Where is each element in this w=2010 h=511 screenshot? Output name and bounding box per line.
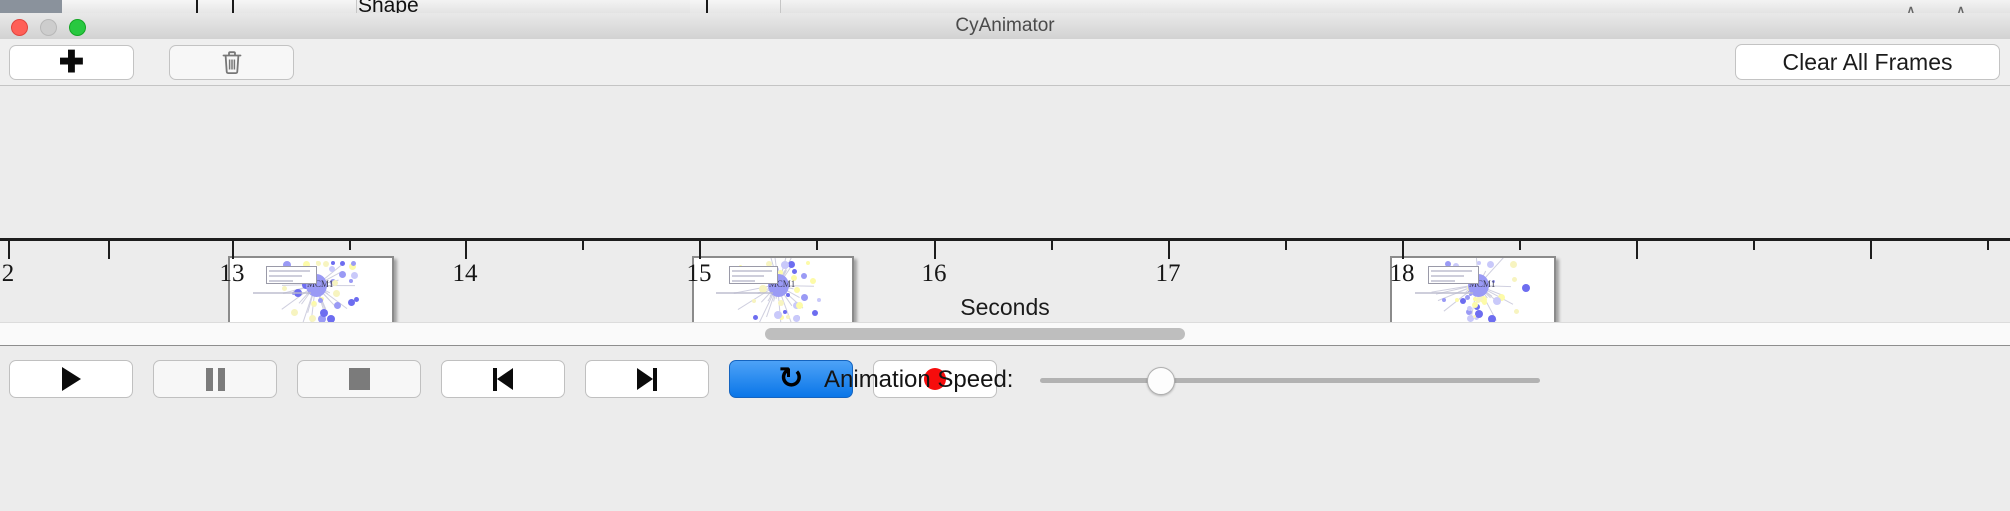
pause-button[interactable] bbox=[153, 360, 277, 398]
ruler-tick-major bbox=[1870, 241, 1872, 259]
background-chevron-icon: ∧ bbox=[1955, 1, 1967, 13]
ruler-tick-major bbox=[1168, 241, 1170, 259]
background-divider bbox=[232, 0, 234, 13]
ruler-tick-major bbox=[699, 241, 701, 259]
clear-all-frames-button[interactable]: Clear All Frames bbox=[1735, 44, 2000, 80]
ruler-tick-label: 15 bbox=[687, 260, 712, 288]
ruler-tick-minor bbox=[1285, 241, 1287, 250]
axis-title: Seconds bbox=[0, 294, 2010, 321]
ruler-tick-label: 16 bbox=[922, 260, 947, 288]
ruler-tick-major bbox=[934, 241, 936, 259]
animation-speed-slider[interactable] bbox=[1040, 378, 1540, 384]
ruler-tick-major bbox=[465, 241, 467, 259]
background-segment bbox=[300, 0, 357, 13]
ruler-tick-minor bbox=[349, 241, 351, 250]
ruler-tick-minor bbox=[1753, 241, 1755, 250]
title-bar: CyAnimator bbox=[0, 13, 2010, 40]
cyanimator-window: Shape ∧ ∧ CyAnimator ✚ Clear All Frames bbox=[0, 0, 2010, 510]
clear-all-frames-label: Clear All Frames bbox=[1783, 49, 1953, 76]
ruler-tick-minor bbox=[816, 241, 818, 250]
ruler-tick-minor bbox=[1519, 241, 1521, 250]
background-segment bbox=[62, 0, 149, 13]
background-divider bbox=[706, 0, 708, 13]
delete-frame-button[interactable] bbox=[169, 45, 294, 80]
trash-icon bbox=[221, 50, 243, 76]
ruler-tick-major bbox=[1402, 241, 1404, 259]
ruler-tick-label: 18 bbox=[1390, 260, 1415, 288]
ruler-tick-major bbox=[1636, 241, 1638, 259]
playback-control-bar: ↻ Animation Speed: bbox=[0, 345, 2010, 511]
ruler-tick-minor bbox=[582, 241, 584, 250]
background-segment bbox=[0, 0, 63, 13]
ruler-baseline bbox=[0, 238, 2010, 241]
background-divider bbox=[196, 0, 198, 13]
background-segment bbox=[200, 0, 301, 13]
background-segment bbox=[690, 0, 781, 13]
add-frame-button[interactable]: ✚ bbox=[9, 45, 134, 80]
ruler-tick-label: 13 bbox=[220, 260, 245, 288]
loop-icon: ↻ bbox=[778, 364, 803, 394]
timeline-scrollbar[interactable] bbox=[0, 322, 2010, 346]
animation-speed-label: Animation Speed: bbox=[824, 362, 1013, 398]
stop-icon bbox=[349, 368, 370, 390]
ruler-tick-label: 14 bbox=[453, 260, 478, 288]
ruler-tick-minor bbox=[108, 241, 110, 250]
background-window-label: Shape bbox=[358, 0, 419, 13]
window-title: CyAnimator bbox=[0, 13, 2010, 39]
ruler-tick-minor bbox=[1987, 241, 1989, 250]
ruler-tick-label: 17 bbox=[1156, 260, 1181, 288]
background-chevron-icon: ∧ bbox=[1905, 1, 1917, 13]
slider-track bbox=[1040, 378, 1540, 383]
skip-previous-icon bbox=[493, 368, 513, 391]
ruler-tick-major bbox=[8, 241, 10, 259]
background-window-strip: Shape ∧ ∧ bbox=[0, 0, 2010, 13]
timeline-ruler[interactable]: 2131415161718 bbox=[0, 238, 2010, 296]
slider-thumb[interactable] bbox=[1147, 367, 1175, 395]
ruler-tick-minor bbox=[1051, 241, 1053, 250]
ruler-tick-label: 2 bbox=[2, 260, 15, 288]
pause-icon bbox=[206, 368, 225, 391]
skip-next-button[interactable] bbox=[585, 360, 709, 398]
scrollbar-thumb[interactable] bbox=[765, 328, 1185, 340]
ruler-tick-major bbox=[232, 241, 234, 259]
play-button[interactable] bbox=[9, 360, 133, 398]
plus-icon: ✚ bbox=[59, 48, 84, 78]
skip-next-icon bbox=[637, 368, 657, 391]
background-segment bbox=[148, 0, 201, 13]
toolbar: ✚ Clear All Frames bbox=[0, 39, 2010, 86]
skip-previous-button[interactable] bbox=[441, 360, 565, 398]
stop-button[interactable] bbox=[297, 360, 421, 398]
play-icon bbox=[62, 367, 81, 391]
